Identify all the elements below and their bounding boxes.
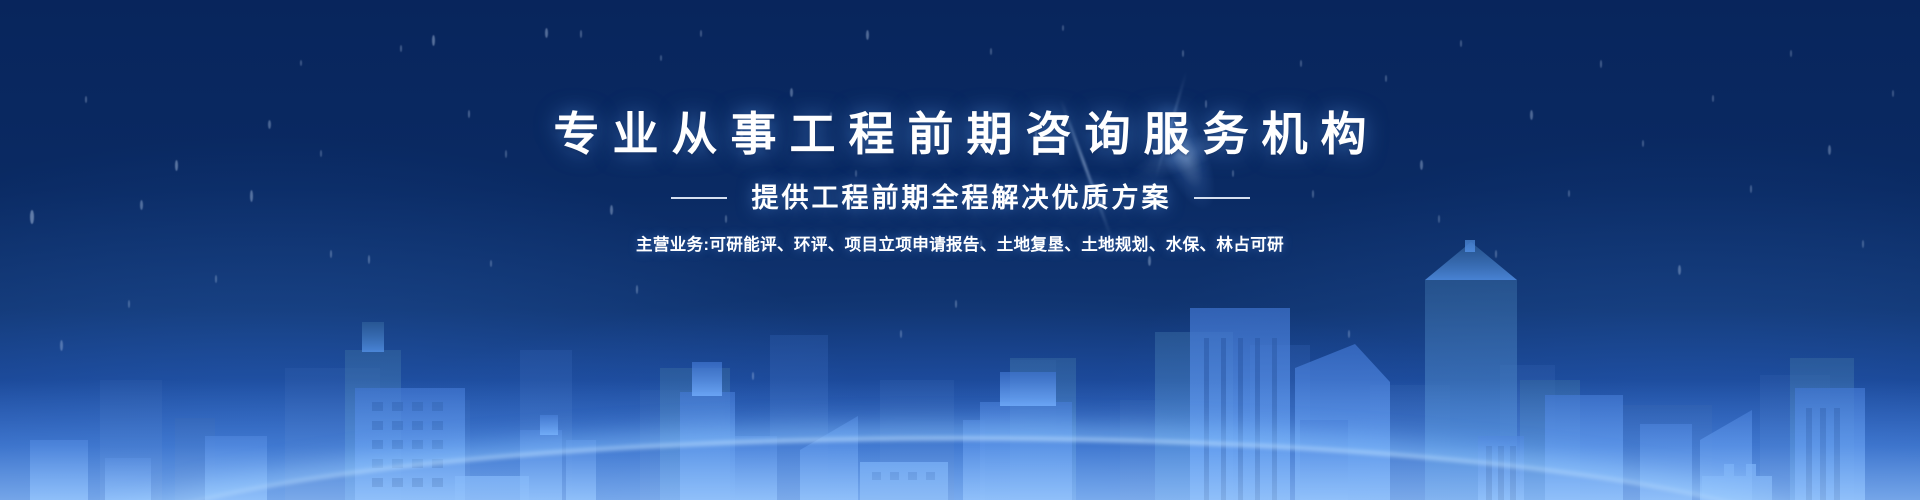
banner-content: 专业从事工程前期咨询服务机构 提供工程前期全程解决优质方案 主营业务:可研能评、… [0,108,1920,256]
rule-left-icon [671,197,727,199]
banner-subtitle: 提供工程前期全程解决优质方案 [749,182,1172,214]
banner-subtitle-row: 提供工程前期全程解决优质方案 [0,182,1920,214]
hero-banner: 专业从事工程前期咨询服务机构 提供工程前期全程解决优质方案 主营业务:可研能评、… [0,0,1920,500]
banner-headline: 专业从事工程前期咨询服务机构 [0,108,1920,160]
banner-services-line: 主营业务:可研能评、环评、项目立项申请报告、土地复垦、土地规划、水保、林占可研 [0,234,1920,256]
rule-right-icon [1194,197,1250,199]
